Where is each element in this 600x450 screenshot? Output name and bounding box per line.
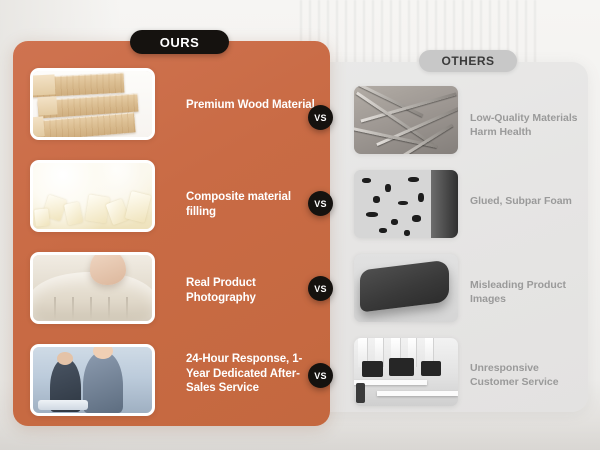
vs-badge-1: VS xyxy=(308,105,333,130)
others-thumbnail-1 xyxy=(354,86,458,154)
others-thumbnail-4 xyxy=(354,338,458,406)
ours-thumbnail-4 xyxy=(30,344,155,416)
ours-label-3: Real Product Photography xyxy=(186,276,316,305)
ours-header-badge: OURS xyxy=(130,30,229,54)
others-thumbnail-3 xyxy=(354,254,458,322)
ours-thumbnail-2 xyxy=(30,160,155,232)
others-label-3: Misleading Product Images xyxy=(470,279,588,307)
others-label-2: Glued, Subpar Foam xyxy=(470,195,588,209)
ours-thumbnail-1 xyxy=(30,68,155,140)
ours-thumbnail-3 xyxy=(30,252,155,324)
ours-label-1: Premium Wood Material xyxy=(186,98,316,113)
vs-badge-3: VS xyxy=(308,276,333,301)
comparison-infographic: Premium Wood Material Composite material… xyxy=(0,0,600,450)
vs-badge-2: VS xyxy=(308,191,333,216)
ours-label-4: 24-Hour Response, 1-Year Dedicated After… xyxy=(186,352,316,396)
others-thumbnail-2 xyxy=(354,170,458,238)
others-label-1: Low-Quality Materials Harm Health xyxy=(470,112,588,140)
others-label-4: Unresponsive Customer Service xyxy=(470,362,588,390)
ours-label-2: Composite material filling xyxy=(186,190,316,219)
others-header-badge: OTHERS xyxy=(419,50,517,72)
vs-badge-4: VS xyxy=(308,363,333,388)
